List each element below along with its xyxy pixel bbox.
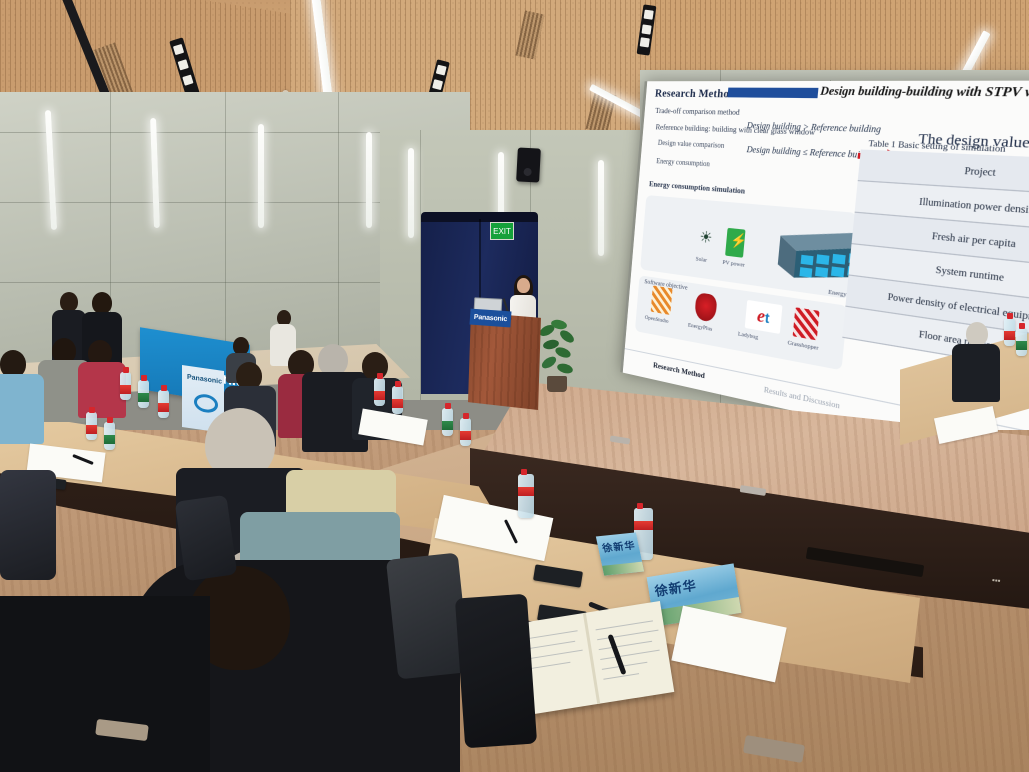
- software-label-1: OpenStudio: [645, 315, 669, 325]
- water-bottle: [158, 390, 169, 418]
- water-bottle: [518, 474, 534, 518]
- energyplus-logo-icon: [694, 292, 717, 323]
- attendee-body: [952, 344, 1000, 402]
- attendee-head: [60, 292, 78, 312]
- slide-accent-bar: [727, 88, 818, 99]
- slide-bullet-5: Energy consumption simulation: [649, 179, 746, 196]
- water-bottle: [104, 422, 115, 450]
- slide-headline: Design building-building with STPV windo…: [820, 86, 1029, 101]
- water-bottle: [460, 418, 471, 446]
- pv-panel-icon: [725, 228, 745, 258]
- attendee-head: [362, 352, 388, 380]
- grasshopper-logo-icon: [793, 307, 820, 340]
- potted-plant: [537, 318, 577, 392]
- water-bottle: [138, 380, 149, 408]
- exit-sign-label: EXIT: [493, 227, 511, 236]
- nameplate-secondary: 徐新华: [596, 532, 644, 575]
- podium-brand-sign: Panasonic: [469, 309, 511, 328]
- office-chair-back: [455, 594, 537, 749]
- footer-next-section: Results and Discussion: [763, 384, 840, 410]
- openstudio-logo-icon: [651, 285, 673, 315]
- podium-brand-label: Panasonic: [474, 313, 508, 322]
- wall-light-strip: [408, 148, 414, 238]
- standee-label: Panasonic: [187, 374, 222, 386]
- water-bottle: [374, 378, 385, 406]
- exit-sign-icon: EXIT: [490, 222, 514, 240]
- attendee-head: [92, 292, 112, 314]
- slide-bullet-4: Energy consumption: [656, 157, 710, 168]
- presenter-head: [517, 278, 530, 293]
- nameplate-primary-label: 徐新华: [653, 575, 697, 600]
- diagram-label-solar: Solar: [695, 256, 707, 264]
- wall-light-strip: [366, 132, 372, 228]
- slide-title: Research Method: [655, 87, 736, 100]
- office-chair-back: [0, 470, 56, 580]
- standee-ring-icon: [194, 393, 218, 414]
- stage-edge-marking: ▪▪▪: [992, 576, 1001, 586]
- attendee-body: [78, 362, 126, 418]
- attendee-silhouette-foreground: [0, 596, 210, 772]
- attendee-head: [966, 322, 988, 346]
- conference-room-photo: EXIT Research Method Trade-off compariso…: [0, 0, 1029, 772]
- attendee-body: [0, 374, 44, 444]
- wall-speaker-icon: [516, 147, 541, 182]
- software-label-3: Ladybug: [738, 331, 759, 341]
- water-bottle: [1016, 328, 1027, 356]
- office-chair-back: [175, 495, 238, 581]
- slide-bullet-3: Design value comparison: [658, 139, 725, 150]
- wall-light-strip: [150, 118, 160, 228]
- sun-icon: ☀: [698, 227, 721, 253]
- ladybug-logo-icon: e t: [745, 300, 783, 334]
- software-label-4: Grasshopper: [787, 340, 819, 352]
- slide-bullet-1: Trade-off comparison method: [655, 106, 740, 117]
- water-bottle: [442, 408, 453, 436]
- nameplate-secondary-label: 徐新华: [601, 537, 637, 555]
- software-label-2: EnergyPlus: [688, 322, 713, 333]
- water-bottle: [86, 412, 97, 440]
- wall-light-strip: [258, 124, 264, 228]
- wall-light-strip: [45, 110, 57, 230]
- water-bottle: [1004, 318, 1015, 346]
- wall-light-strip: [598, 160, 604, 256]
- footer-active-section: Research Method: [653, 360, 705, 380]
- water-bottle: [120, 372, 131, 400]
- water-bottle: [392, 386, 403, 414]
